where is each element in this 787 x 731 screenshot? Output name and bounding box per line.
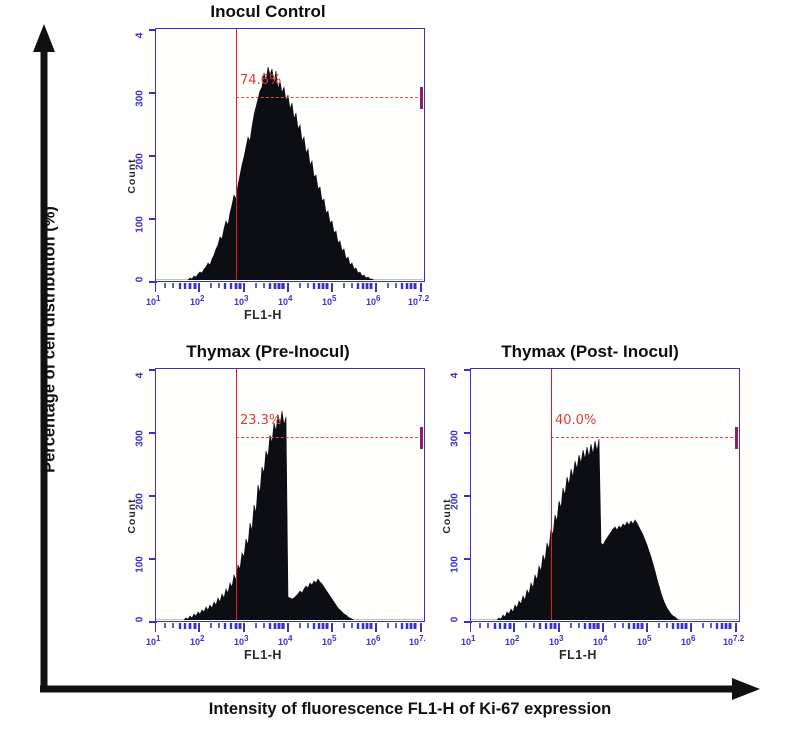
panel-thymax-post-inocul: Thymax (Post- Inocul) Count 0 100 200 30… bbox=[423, 340, 763, 670]
x-tick-4: 104 bbox=[278, 294, 292, 307]
y-tick-100: 100 bbox=[135, 545, 146, 585]
x-tick-5: 105 bbox=[322, 294, 336, 307]
gate-threshold-dash-thymax-post-inocul bbox=[551, 437, 738, 438]
x-tick-6: 106 bbox=[681, 634, 695, 647]
x-tick-5: 105 bbox=[637, 634, 651, 647]
gate-marker-cap-thymax-post-inocul bbox=[735, 427, 738, 449]
x-tick-1: 101 bbox=[146, 294, 160, 307]
y-tick-0: 0 bbox=[135, 265, 146, 295]
plot-frame-thymax-post-inocul: 40.0% bbox=[470, 368, 740, 622]
x-tick-4: 104 bbox=[278, 634, 292, 647]
y-tick-200: 200 bbox=[450, 482, 461, 522]
y-tick-400: 4 bbox=[135, 26, 146, 46]
x-tick-7: 107.2 bbox=[408, 294, 429, 307]
x-axis-title-fl1h: FL1-H bbox=[108, 648, 418, 662]
x-tick-3: 103 bbox=[234, 294, 248, 307]
x-axis-title-fl1h: FL1-H bbox=[108, 308, 418, 322]
plot-frame-thymax-pre-inocul: 23.3% bbox=[155, 368, 425, 622]
x-tick-4: 104 bbox=[593, 634, 607, 647]
gate-line-inocul-control bbox=[236, 29, 237, 280]
gate-percent-thymax-pre-inocul: 23.3% bbox=[240, 413, 281, 428]
figure-y-axis-label: Percentage of cell distribution (%) bbox=[41, 195, 60, 485]
panel-inocul-control: Inocul Control Count 0 100 200 300 4 74.… bbox=[108, 0, 438, 330]
gate-line-thymax-pre-inocul bbox=[236, 369, 237, 620]
gate-percent-inocul-control: 74.6% bbox=[240, 73, 281, 88]
panel-title-thymax-pre-inocul: Thymax (Pre-Inocul) bbox=[118, 342, 418, 362]
gate-percent-thymax-post-inocul: 40.0% bbox=[555, 413, 596, 428]
gate-threshold-dash-thymax-pre-inocul bbox=[236, 437, 423, 438]
plot-frame-inocul-control: 74.6% bbox=[155, 28, 425, 282]
x-tick-3: 103 bbox=[549, 634, 563, 647]
y-tick-200: 200 bbox=[135, 482, 146, 522]
y-tick-0: 0 bbox=[450, 605, 461, 635]
gate-line-thymax-post-inocul bbox=[551, 369, 552, 620]
y-tick-100: 100 bbox=[135, 205, 146, 245]
figure-x-axis-label: Intensity of fluorescence FL1-H of Ki-67… bbox=[110, 700, 710, 719]
y-tick-0: 0 bbox=[135, 605, 146, 635]
x-tick-7: 107.2 bbox=[723, 634, 744, 647]
y-tick-400: 4 bbox=[135, 366, 146, 386]
x-tick-1: 101 bbox=[461, 634, 475, 647]
panel-thymax-pre-inocul: Thymax (Pre-Inocul) Count 0 100 200 300 … bbox=[108, 340, 438, 670]
y-tick-300: 300 bbox=[135, 79, 146, 119]
x-tick-2: 102 bbox=[190, 634, 204, 647]
y-tick-200: 200 bbox=[135, 142, 146, 182]
histogram-inocul-control bbox=[156, 29, 423, 280]
x-tick-3: 103 bbox=[234, 634, 248, 647]
x-tick-6: 106 bbox=[366, 294, 380, 307]
panel-title-inocul-control: Inocul Control bbox=[118, 2, 418, 22]
x-axis-title-fl1h: FL1-H bbox=[423, 648, 733, 662]
gate-threshold-dash-inocul-control bbox=[236, 97, 423, 98]
y-tick-100: 100 bbox=[450, 545, 461, 585]
y-tick-300: 300 bbox=[450, 419, 461, 459]
y-tick-400: 4 bbox=[450, 366, 461, 386]
x-tick-2: 102 bbox=[505, 634, 519, 647]
y-tick-300: 300 bbox=[135, 419, 146, 459]
histogram-thymax-pre-inocul bbox=[156, 369, 423, 620]
x-tick-1: 101 bbox=[146, 634, 160, 647]
histogram-thymax-post-inocul bbox=[471, 369, 738, 620]
flow-cytometry-figure: Percentage of cell distribution (%) Inte… bbox=[0, 0, 787, 731]
x-tick-5: 105 bbox=[322, 634, 336, 647]
gate-marker-cap-inocul-control bbox=[420, 87, 423, 109]
x-tick-2: 102 bbox=[190, 294, 204, 307]
x-tick-6: 106 bbox=[366, 634, 380, 647]
panel-title-thymax-post-inocul: Thymax (Post- Inocul) bbox=[435, 342, 745, 362]
